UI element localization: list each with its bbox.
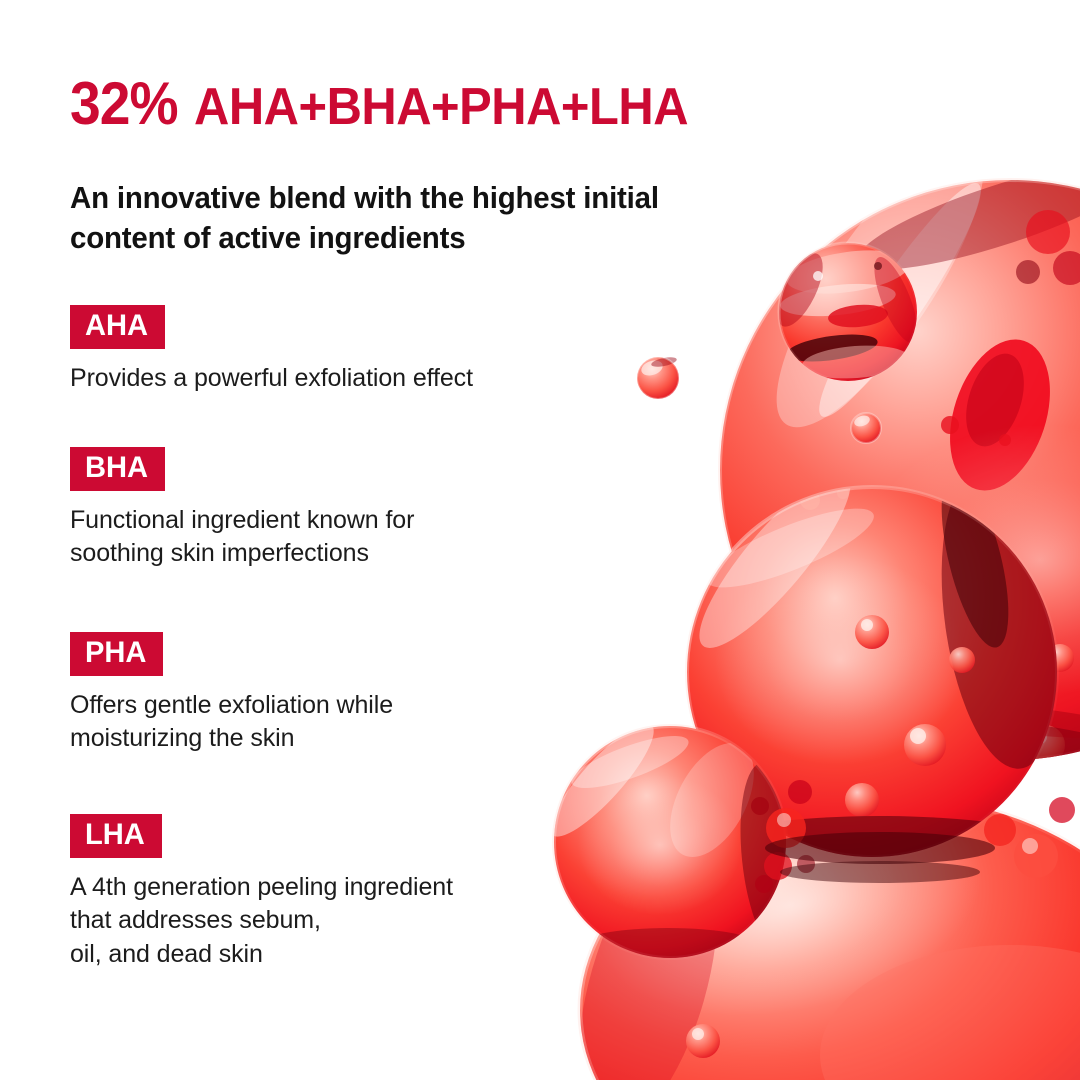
ingredient-block-lha: LHA A 4th generation peeling ingredient … <box>70 814 453 971</box>
desc-line: oil, and dead skin <box>70 938 453 971</box>
status-badge-aha: AHA <box>70 305 165 349</box>
desc-line: soothing skin imperfections <box>70 537 414 570</box>
ingredient-description-pha: Offers gentle exfoliation while moisturi… <box>70 689 393 756</box>
poster-canvas: 32%AHA+BHA+PHA+LHA An innovative blend w… <box>0 0 1080 1080</box>
status-badge-bha: BHA <box>70 447 165 491</box>
badge-label-pha: PHA <box>85 638 146 668</box>
ingredient-description-bha: Functional ingredient known for soothing… <box>70 504 414 571</box>
badge-label-bha: BHA <box>85 453 148 483</box>
desc-line: moisturizing the skin <box>70 722 393 755</box>
ingredient-block-bha: BHA Functional ingredient known for soot… <box>70 447 414 571</box>
ingredient-block-aha: AHA Provides a powerful exfoliation effe… <box>70 305 473 395</box>
status-badge-lha: LHA <box>70 814 162 858</box>
badge-label-lha: LHA <box>85 820 145 850</box>
ingredient-block-pha: PHA Offers gentle exfoliation while mois… <box>70 632 393 756</box>
page-subtitle: An innovative blend with the highest ini… <box>70 178 690 257</box>
badge-label-aha: AHA <box>85 311 148 341</box>
desc-line: that addresses sebum, <box>70 904 453 937</box>
desc-line: A 4th generation peeling ingredient <box>70 871 453 904</box>
content-layer: 32%AHA+BHA+PHA+LHA An innovative blend w… <box>0 0 1080 1080</box>
desc-line: Offers gentle exfoliation while <box>70 689 393 722</box>
desc-line: Functional ingredient known for <box>70 504 414 537</box>
ingredient-description-aha: Provides a powerful exfoliation effect <box>70 362 473 395</box>
page-title: 32%AHA+BHA+PHA+LHA <box>70 74 720 134</box>
status-badge-pha: PHA <box>70 632 163 676</box>
headline-acids: AHA+BHA+PHA+LHA <box>194 81 688 133</box>
ingredient-description-lha: A 4th generation peeling ingredient that… <box>70 871 453 971</box>
subtitle-line-1: An innovative blend with the highest ini… <box>70 178 659 218</box>
subtitle-line-2: content of active ingredients <box>70 218 659 258</box>
desc-line: Provides a powerful exfoliation effect <box>70 362 473 395</box>
headline-percent: 32% <box>70 74 178 134</box>
